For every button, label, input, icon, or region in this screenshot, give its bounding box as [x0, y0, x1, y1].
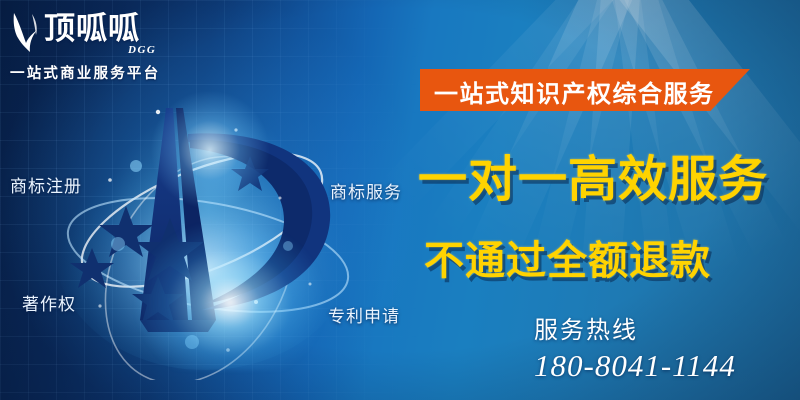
- headline-secondary: 不通过全额退款: [424, 228, 711, 286]
- brand-abbr: DGG: [128, 44, 156, 56]
- emblem-label-patent-application: 专利申请: [328, 302, 400, 327]
- emblem-top-glow: [150, 90, 270, 210]
- brand-name: 顶呱呱: [44, 12, 140, 46]
- service-ribbon: 一站式知识产权综合服务: [420, 69, 750, 111]
- brand-tagline: 一站式商业服务平台: [10, 62, 160, 83]
- service-ribbon-text: 一站式知识产权综合服务: [434, 74, 715, 109]
- brand-logo[interactable]: 顶呱呱 DGG 一站式商业服务平台: [8, 8, 188, 88]
- emblem-glow: [135, 220, 325, 370]
- emblem-label-trademark-registration: 商标注册: [10, 172, 82, 197]
- orbit-tower-emblem: [40, 70, 370, 380]
- headline-primary: 一对一高效服务: [418, 140, 768, 211]
- emblem-label-trademark-service: 商标服务: [330, 178, 402, 203]
- hotline-label: 服务热线: [534, 310, 638, 345]
- promo-banner: 商标注册 商标服务 著作权 专利申请 顶呱呱 DGG 一站式商业服务平台 一站式…: [0, 0, 800, 400]
- hotline-number[interactable]: 180-8041-1144: [534, 348, 736, 384]
- emblem-label-copyright: 著作权: [22, 290, 76, 315]
- logo-row: 顶呱呱 DGG: [8, 8, 188, 60]
- leaf-flame-icon: [10, 10, 42, 54]
